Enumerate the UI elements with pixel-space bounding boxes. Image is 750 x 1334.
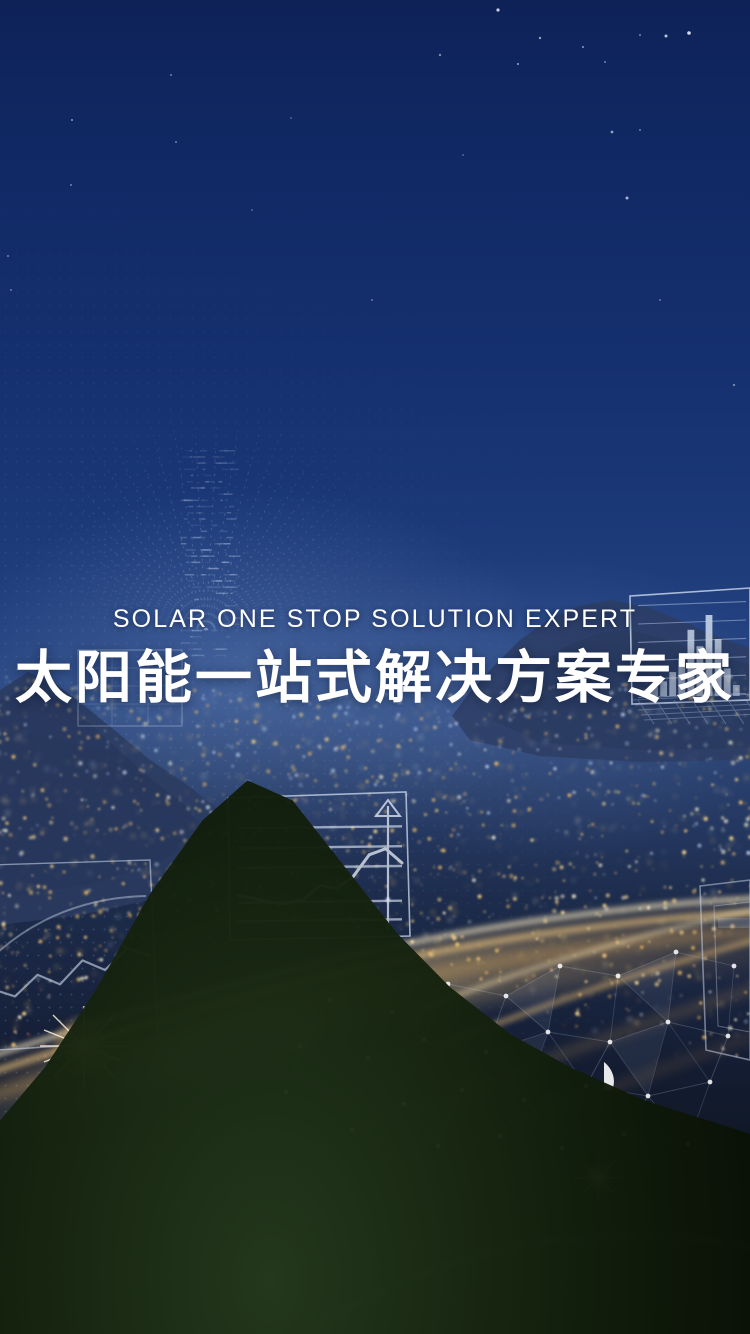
hero-eyebrow: SOLAR ONE STOP SOLUTION EXPERT bbox=[0, 602, 750, 636]
hero-text-block: SOLAR ONE STOP SOLUTION EXPERT 太阳能一站式解决方… bbox=[0, 602, 750, 714]
hud-panel-center-line-chart bbox=[228, 792, 410, 940]
hero-headline: 太阳能一站式解决方案专家 bbox=[0, 642, 750, 714]
hud-panel-left-line-chart bbox=[0, 860, 158, 1052]
hero-banner: SOLAR ONE STOP SOLUTION EXPERT 太阳能一站式解决方… bbox=[0, 0, 750, 1334]
hud-panel-edge-frame bbox=[700, 880, 750, 1060]
